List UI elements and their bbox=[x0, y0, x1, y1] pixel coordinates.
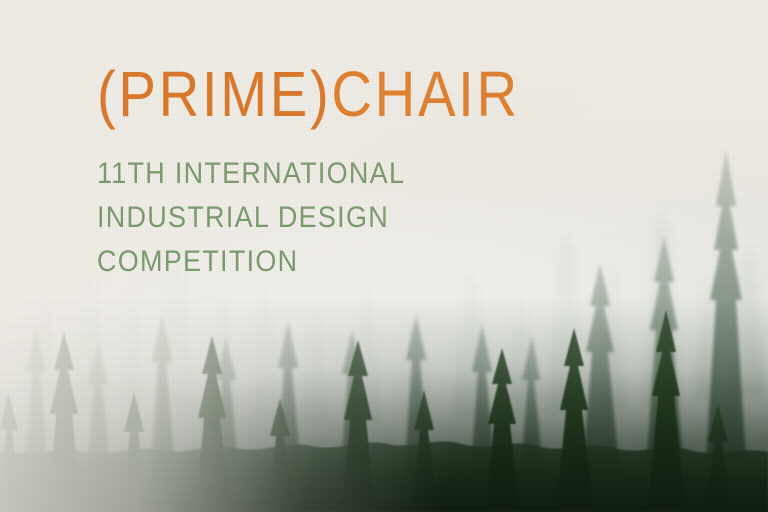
subtitle-line-1: 11TH INTERNATIONAL bbox=[97, 152, 565, 196]
poster-subtitle: 11TH INTERNATIONAL INDUSTRIAL DESIGN COM… bbox=[97, 152, 565, 284]
poster-text-block: (PRIME)CHAIR 11TH INTERNATIONAL INDUSTRI… bbox=[97, 62, 617, 284]
subtitle-line-3: COMPETITION bbox=[97, 240, 565, 284]
poster-canvas: (PRIME)CHAIR 11TH INTERNATIONAL INDUSTRI… bbox=[0, 0, 768, 512]
wordmark-close-paren: ) bbox=[310, 58, 331, 130]
subtitle-line-2: INDUSTRIAL DESIGN bbox=[97, 196, 565, 240]
wordmark-open-paren: ( bbox=[97, 58, 118, 130]
wordmark-chair: CHAIR bbox=[331, 58, 519, 130]
wordmark-prime: PRIME bbox=[118, 58, 310, 130]
page-title: (PRIME)CHAIR bbox=[97, 62, 555, 126]
